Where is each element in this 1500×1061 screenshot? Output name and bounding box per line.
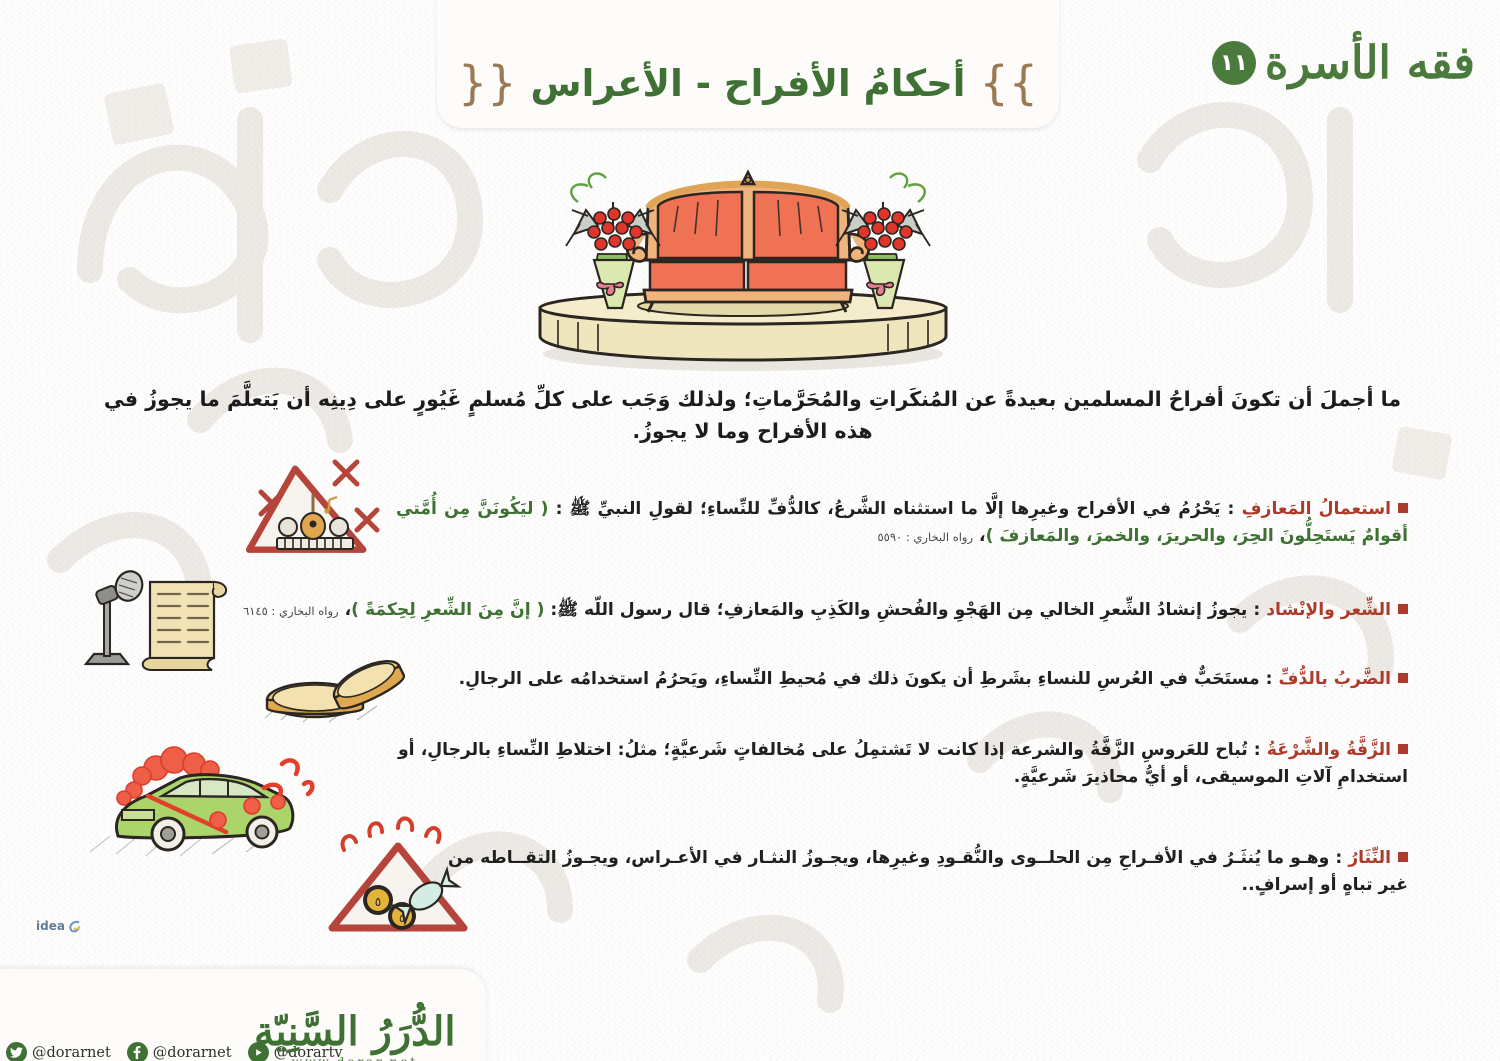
item-term: الضَّربُ بالدُّفِّ (1279, 669, 1391, 689)
idea-label: idea (36, 919, 65, 933)
item-body: يجوزُ إنشادُ الشِّعرِ الخالي مِن الهَجْو… (544, 600, 1247, 620)
list-item: الزَّفَّةُ والشَّرْعَةُ : تُباح للعَروسِ… (398, 737, 1408, 791)
list-item: النِّثَارُ : وهـو ما يُنثَـرُ في الأفـرا… (448, 845, 1408, 899)
decorative-brace-left-icon: {{ (458, 60, 517, 106)
item-body: مستَحَبٌّ في العُرسِ للنساءِ بشَرطِ أن ي… (459, 669, 1260, 689)
wedding-stage-illustration (498, 150, 988, 375)
list-item: استعمالُ المَعازفِ : يَحْرُمُ في الأفراح… (396, 496, 1408, 550)
item-term: الزَّفَّةُ والشَّرْعَةُ (1267, 740, 1391, 760)
series-name: فقه الأسرة (1265, 36, 1475, 89)
intro-paragraph: ما أجملَ أن تكونَ أفراحُ المسلمين بعيدةً… (100, 383, 1405, 448)
item-term: استعمالُ المَعازفِ (1242, 499, 1391, 519)
footer-plate: @dorarnet @dorarnet @dorartv الدُّرَرُ ا… (0, 969, 486, 1061)
bullet-square-icon (1398, 503, 1408, 513)
series-badge: فقه الأسرة ١١ (1212, 36, 1475, 89)
item-term: الشِّعر والإنْشاد (1266, 600, 1391, 620)
social-link-twitter[interactable]: @dorarnet (6, 1042, 111, 1061)
item-separator: : (1220, 499, 1241, 519)
idea-watermark: idea (36, 919, 81, 933)
facebook-icon (127, 1042, 148, 1061)
list-item: الضَّربُ بالدُّفِّ : مستَحَبٌّ في العُرس… (398, 666, 1408, 693)
svg-text:٥: ٥ (375, 895, 381, 909)
item-source: رواه البخاري : ٦١٤٥ (243, 604, 339, 618)
item-hadith: ( إنَّ مِنَ الشِّعرِ لِحِكمَةً ) (351, 600, 544, 620)
bullet-square-icon (1398, 852, 1408, 862)
bullet-square-icon (1398, 744, 1408, 754)
item-separator: : (1329, 848, 1348, 868)
social-handle: @dorarnet (32, 1045, 111, 1061)
brand-url: www.dorar.net (254, 1054, 455, 1061)
idea-swirl-icon (68, 920, 81, 933)
series-number-badge: ١١ (1212, 41, 1256, 85)
bullet-square-icon (1398, 673, 1408, 683)
item-source: رواه البخاري : ٥٥٩٠ (878, 530, 974, 544)
music-instruments-prohibited-triangle-icon (243, 452, 389, 570)
list-item: الشِّعر والإنْشاد : يجوزُ إنشادُ الشِّعر… (226, 597, 1408, 624)
item-body: وهـو ما يُنثَـرُ في الأفـراحِ مِن الحلــ… (448, 848, 1408, 895)
brand-logo[interactable]: الدُّرَرُ السَّنِيّة www.dorar.net (254, 1012, 455, 1061)
twitter-icon (6, 1042, 27, 1061)
infographic-poster: }} أحكامُ الأفراح - الأعراس {{ فقه الأسر… (0, 0, 1500, 1061)
item-separator: : (1260, 669, 1279, 689)
social-link-facebook[interactable]: @dorarnet (127, 1042, 232, 1061)
duff-frame-drums-icon (257, 646, 405, 726)
item-separator: : (1248, 740, 1267, 760)
item-separator: : (1247, 600, 1266, 620)
item-body: يَحْرُمُ في الأفراح وغيرِها إلَّا ما است… (548, 499, 1220, 519)
item-term: النِّثَارُ (1348, 848, 1391, 868)
brand-name: الدُّرَرُ السَّنِيّة (254, 1012, 455, 1052)
bullet-square-icon (1398, 604, 1408, 614)
microphone-and-poetry-scroll-icon (72, 566, 240, 676)
decorated-wedding-car-icon (76, 740, 316, 862)
title-plate: }} أحكامُ الأفراح - الأعراس {{ (437, 0, 1059, 128)
social-handle: @dorarnet (153, 1045, 232, 1061)
decorative-brace-right-icon: }} (979, 60, 1038, 106)
page-title: أحكامُ الأفراح - الأعراس (531, 62, 966, 105)
